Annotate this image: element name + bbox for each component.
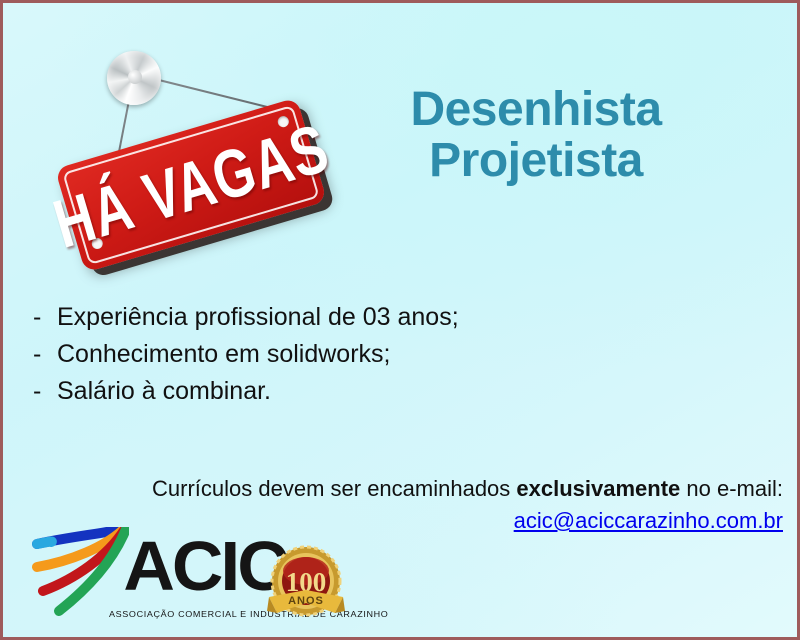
list-item: - Salário à combinar. bbox=[33, 373, 593, 410]
centenary-seal-icon: 100 ANOS bbox=[263, 543, 349, 627]
job-vacancy-poster: HÁ VAGAS Desenhista Projetista - Experiê… bbox=[0, 0, 800, 640]
svg-text:ANOS: ANOS bbox=[288, 595, 324, 607]
contact-trail-text: no e-mail: bbox=[680, 476, 783, 501]
list-item: - Conhecimento em solidworks; bbox=[33, 336, 593, 373]
bullet-dash-icon: - bbox=[33, 373, 55, 410]
bullet-dash-icon: - bbox=[33, 299, 55, 336]
acic-wordmark: ACIC bbox=[123, 531, 285, 601]
list-item-label: Conhecimento em solidworks; bbox=[55, 336, 390, 373]
list-item-label: Experiência profissional de 03 anos; bbox=[55, 299, 459, 336]
page-title-line-1: Desenhista bbox=[371, 85, 701, 136]
page-title: Desenhista Projetista bbox=[371, 85, 701, 187]
acic-logo: ACIC ASSOCIAÇÃO COMERCIAL E INDUSTRIAL D… bbox=[17, 527, 357, 639]
contact-emphasis-text: exclusivamente bbox=[516, 476, 680, 501]
vacancy-sign-plate: HÁ VAGAS bbox=[55, 97, 327, 272]
page-title-line-2: Projetista bbox=[371, 136, 701, 187]
contact-lead-text: Currículos devem ser encaminhados bbox=[152, 476, 516, 501]
vacancy-sign-label: HÁ VAGAS bbox=[59, 88, 324, 282]
metal-disc-icon bbox=[107, 51, 161, 105]
bullet-dash-icon: - bbox=[33, 336, 55, 373]
contact-sentence: Currículos devem ser encaminhados exclus… bbox=[23, 473, 783, 505]
list-item-label: Salário à combinar. bbox=[55, 373, 271, 410]
hanging-sign-graphic: HÁ VAGAS bbox=[3, 3, 363, 303]
acic-swoosh-icon bbox=[17, 527, 129, 619]
requirements-list: - Experiência profissional de 03 anos; -… bbox=[33, 299, 593, 410]
list-item: - Experiência profissional de 03 anos; bbox=[33, 299, 593, 336]
